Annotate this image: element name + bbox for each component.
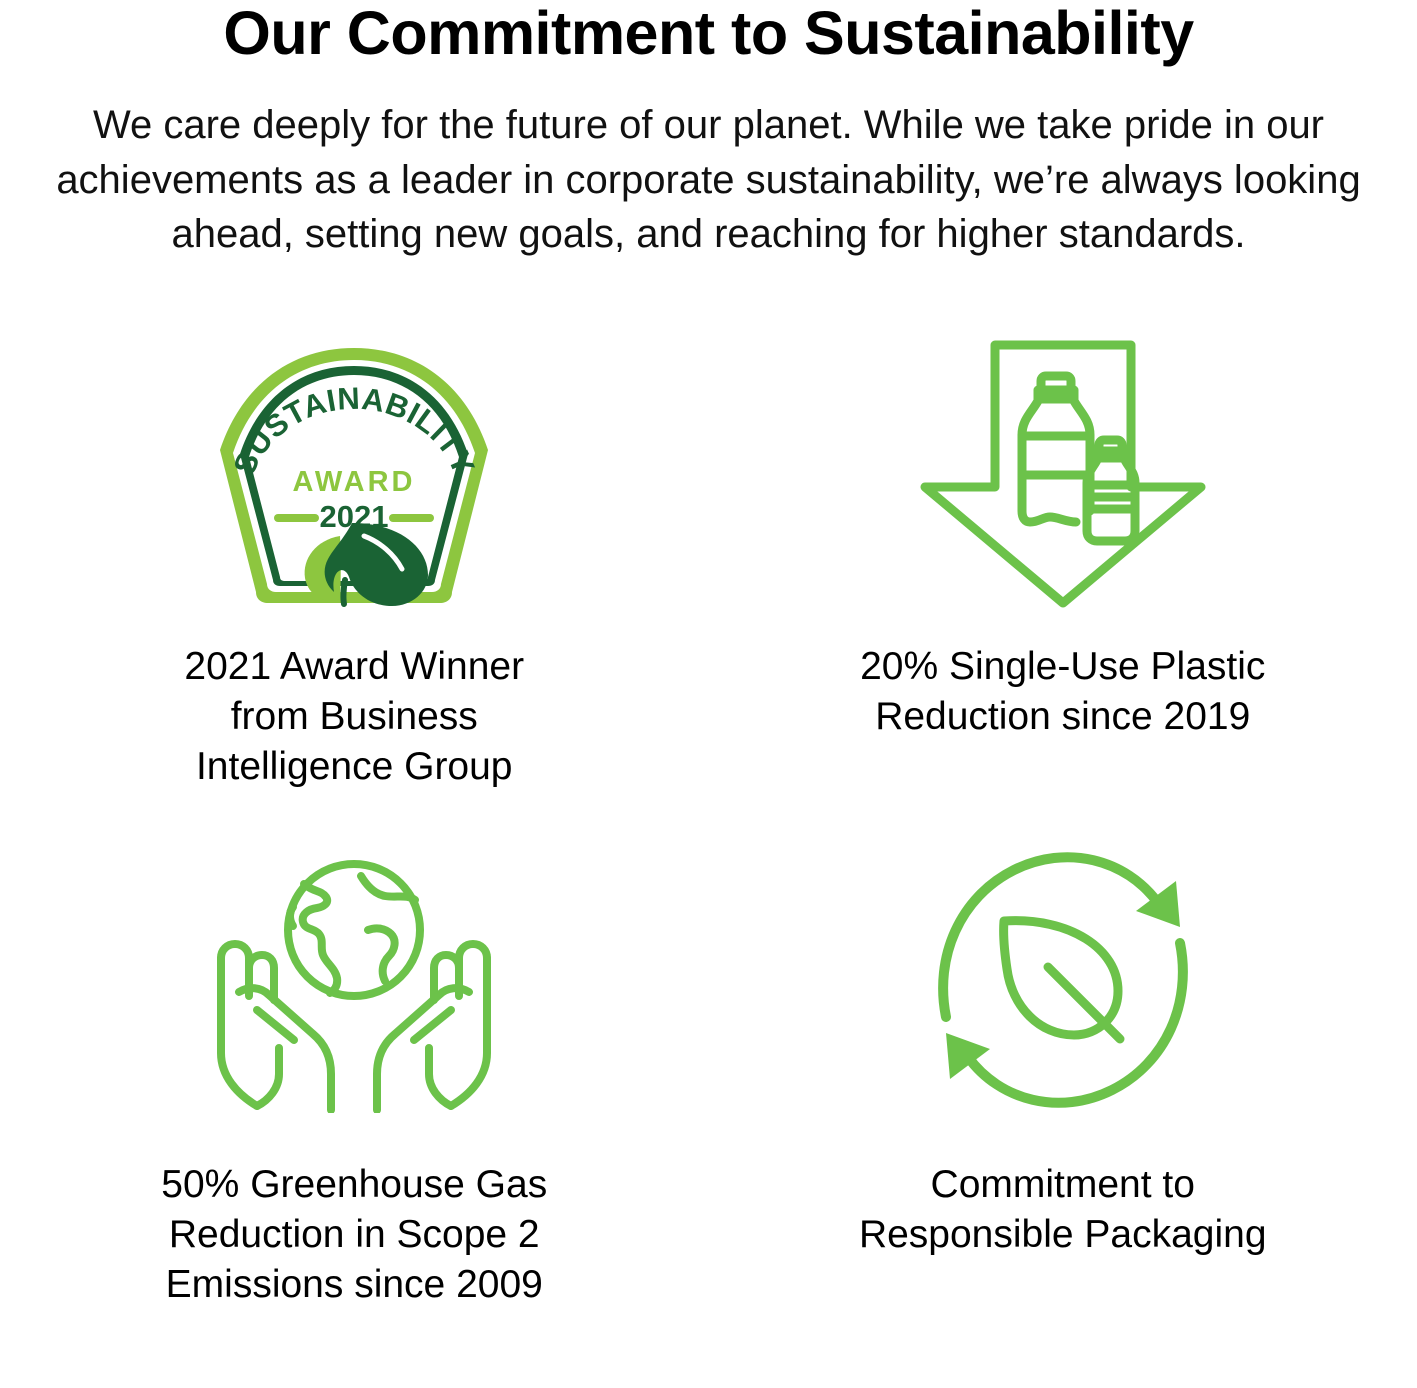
page-title: Our Commitment to Sustainability (0, 2, 1417, 64)
badge-dash-right (389, 514, 434, 522)
pillars-grid: SUSTAINABILITY AWARD 2021 (0, 330, 1417, 1320)
sustainability-award-badge-icon: SUSTAINABILITY AWARD 2021 (204, 330, 504, 620)
pillar-plastic-caption: 20% Single-Use Plastic Reduction since 2… (860, 642, 1265, 742)
pillar-award-caption: 2021 Award Winner from Business Intellig… (184, 642, 524, 792)
plastic-bottle-reduction-arrow-icon (898, 330, 1228, 620)
pillar-emissions: 50% Greenhouse Gas Reduction in Scope 2 … (0, 830, 709, 1320)
page-header: Our Commitment to Sustainability We care… (0, 0, 1417, 261)
leaf-stem (1048, 967, 1120, 1039)
globe-continent-africa (368, 928, 395, 981)
pillar-packaging-caption: Commitment to Responsible Packaging (859, 1160, 1267, 1260)
pillar-plastic: 20% Single-Use Plastic Reduction since 2… (709, 330, 1417, 830)
cycle-arc-bottom (968, 943, 1183, 1103)
right-hand-palm (377, 988, 469, 1110)
globe-continent-small (290, 907, 293, 926)
large-bottle-body-left (1022, 399, 1076, 522)
cycle-arc-top (943, 857, 1158, 1017)
large-bottle-collar (1038, 390, 1074, 399)
pillar-award: SUSTAINABILITY AWARD 2021 (0, 330, 709, 830)
badge-dash-left (274, 514, 319, 522)
intro-paragraph: We care deeply for the future of our pla… (14, 98, 1404, 261)
left-hand-palm (239, 988, 331, 1110)
recycling-leaf-cycle-icon (918, 830, 1208, 1130)
right-hand-inner (429, 1048, 451, 1106)
badge-award-text: AWARD (293, 466, 416, 498)
pillar-emissions-caption: 50% Greenhouse Gas Reduction in Scope 2 … (161, 1160, 547, 1310)
pillar-packaging: Commitment to Responsible Packaging (709, 830, 1417, 1320)
hands-holding-globe-icon (209, 830, 499, 1130)
sustainability-infographic: Our Commitment to Sustainability We care… (0, 0, 1417, 1388)
left-hand-inner (257, 1048, 279, 1106)
